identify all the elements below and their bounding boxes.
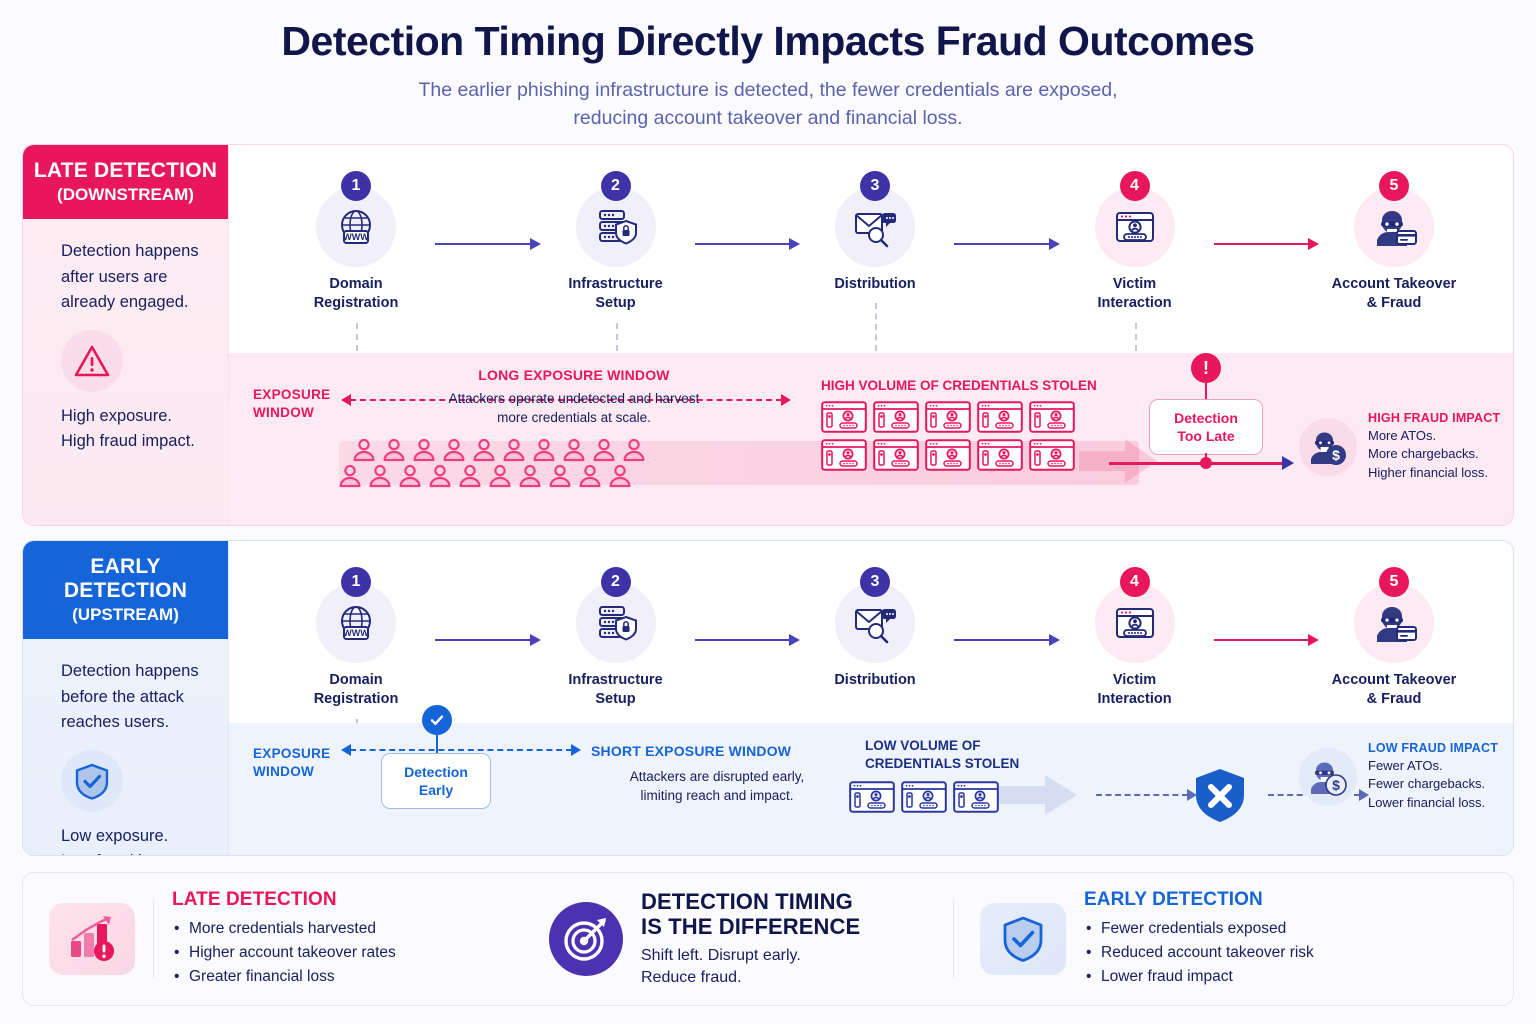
late-people-bottom-item [547,463,573,489]
late-impact-list: More ATOs.More chargebacks.Higher financ… [1368,427,1500,482]
late-step-2-label: Infrastructure Setup [541,275,691,313]
late-step-1-label-l1: Domain [281,275,431,294]
early-step-5-label: Account Takeover & Fraud [1319,671,1469,709]
late-people-top-item [591,437,617,463]
late-fraud-impact: $ HIGH FRAUD IMPACT More ATOs.More charg… [1299,411,1514,482]
late-step-3-badge: 3 [860,171,890,201]
late-cards-item [977,439,1023,471]
early-side-note: Low exposure. Low fraud impact. [61,824,206,856]
early-step-4-label-l2: Interaction [1060,690,1210,709]
early-exposure-band: EXPOSURE WINDOW Detection Early SHORT [229,723,1513,855]
late-expo-l2: WINDOW [253,404,330,422]
early-note-line2: Low fraud impact. [61,849,206,856]
late-arrow-3 [950,243,1060,245]
late-cards-item [821,439,867,471]
late-step-4-label: Victim Interaction [1060,275,1210,313]
early-detection-panel: EARLY DETECTION (UPSTREAM) Detection hap… [22,540,1514,856]
late-people-bottom-item [517,463,543,489]
late-arrow-1 [431,243,541,245]
early-detection-box-l2: Early [393,781,479,799]
early-step-2-badge: 2 [601,567,631,597]
page-subtitle-line2: reducing account takeover and financial … [0,105,1536,133]
early-note-line1: Low exposure. [61,824,206,850]
early-step-victim-interaction[interactable]: 4 Victim [1060,567,1210,709]
early-step-5-label-l1: Account Takeover [1319,671,1469,690]
late-step-5-label-l1: Account Takeover [1319,275,1469,294]
late-step-4-badge: 4 [1120,171,1150,201]
late-detection-box-l1: Detection [1161,409,1251,427]
late-people-top-item [351,437,377,463]
late-people-bottom-item [427,463,453,489]
late-people-top-item [501,437,527,463]
early-window-title: SHORT EXPOSURE WINDOW [591,743,791,759]
early-impact-list: Fewer ATOs.Fewer chargebacks.Lower finan… [1368,757,1498,812]
late-exposure-window-label: EXPOSURE WINDOW [253,386,330,422]
summary-middle-title-l1: DETECTION TIMING [641,889,860,915]
early-step-account-takeover[interactable]: 5 Account [1319,567,1469,709]
late-people-top-item [381,437,407,463]
early-dashed-1 [1087,794,1197,796]
late-step-4-label-l1: Victim [1060,275,1210,294]
early-exposure-arrow [341,749,581,751]
late-flow-row: 1 WWW Domain Registration [229,145,1513,313]
svg-text:WWW: WWW [343,232,369,242]
late-step-account-takeover[interactable]: 5 Account [1319,171,1469,313]
early-step-2-label-l2: Setup [541,690,691,709]
early-expo-l1: EXPOSURE [253,745,330,763]
shield-check-icon [980,903,1066,975]
summary-late-detection: LATE DETECTION More credentials harveste… [23,893,523,985]
late-main-area: 1 WWW Domain Registration [228,145,1513,525]
late-step-1-badge: 1 [341,171,371,201]
late-impact-list-item: More ATOs. [1368,427,1500,445]
early-step-1-label-l1: Domain [281,671,431,690]
late-step-3-label: Distribution [800,275,950,294]
late-step-2-badge: 2 [601,171,631,201]
early-cards-item [901,781,947,813]
page-title: Detection Timing Directly Impacts Fraud … [0,18,1536,65]
late-step-victim-interaction[interactable]: 4 Victim [1060,171,1210,313]
late-side-description: Detection happens after users are alread… [61,239,206,316]
late-impact-arrowhead [1282,456,1294,470]
late-cards-item [925,439,971,471]
late-dropline-1 [356,323,358,351]
sum-early-list-item: Fewer credentials exposed [1084,917,1314,941]
late-step-5-badge: 5 [1379,171,1409,201]
late-impact-line [1109,462,1284,465]
sum-late-list-item: Higher account takeover rates [172,941,396,965]
early-side-header: EARLY DETECTION (UPSTREAM) [23,541,228,639]
page-subtitle: The earlier phishing infrastructure is d… [0,77,1536,132]
late-side-card: LATE DETECTION (DOWNSTREAM) Detection ha… [23,145,228,525]
early-detection-box[interactable]: Detection Early [381,753,491,809]
early-expo-l2: WINDOW [253,763,330,781]
sum-late-list-item: More credentials harvested [172,917,396,941]
late-people-bottom-item [577,463,603,489]
summary-early-detection: EARLY DETECTION Fewer credentials expose… [954,893,1494,985]
early-detection-box-l1: Detection [393,763,479,781]
late-detection-dot-icon: ! [1191,353,1221,383]
late-cards-item [1029,439,1075,471]
bar-chart-alert-icon [49,903,135,975]
late-side-icon-wrap [61,330,206,392]
summary-divider-1 [153,900,154,978]
early-arrow-4 [1210,639,1320,641]
early-heading-line2: (UPSTREAM) [33,605,218,625]
summary-middle-title: DETECTION TIMING IS THE DIFFERENCE [641,889,860,940]
summary-late-list: More credentials harvestedHigher account… [172,917,396,990]
late-note-line1: High exposure. [61,404,206,430]
late-heading-line2: (DOWNSTREAM) [33,185,218,205]
early-main-area: 1 WWW Domain Registration [228,541,1513,855]
late-step-2-label-l2: Setup [541,294,691,313]
early-side-icon-wrap [61,750,206,812]
early-step-3-badge: 3 [860,567,890,597]
summary-middle-title-l2: IS THE DIFFERENCE [641,914,860,940]
late-step-4-label-l2: Interaction [1060,294,1210,313]
late-exposure-band: EXPOSURE WINDOW LONG EXPOSURE WINDOW Att… [229,353,1513,525]
early-flow-row: 1 WWW Domain Registration [229,541,1513,709]
late-people-bottom-item [487,463,513,489]
late-step-1-label-l2: Registration [281,294,431,313]
summary-middle: DETECTION TIMING IS THE DIFFERENCE Shift… [523,893,953,985]
late-window-desc-l2: more credentials at scale. [404,408,744,427]
early-fraud-impact: $ LOW FRAUD IMPACT Fewer ATOs.Fewer char… [1299,741,1514,812]
late-people-bottom-item [457,463,483,489]
late-step-5-label-l2: & Fraud [1319,294,1469,313]
early-step-2-label-l1: Infrastructure [541,671,691,690]
late-arrow-2 [691,243,801,245]
early-volume-title-l1: LOW VOLUME OF [865,737,1019,755]
early-volume-title-l2: CREDENTIALS STOLEN [865,755,1019,773]
sum-early-list-item: Reduced account takeover risk [1084,941,1314,965]
sum-early-list-item: Lower fraud impact [1084,965,1314,989]
late-cards-item [873,401,919,433]
late-cards-item [821,401,867,433]
late-cards-item [1029,401,1075,433]
shield-check-icon [61,750,123,812]
late-detection-box-l2: Too Late [1161,427,1251,445]
late-people-top-item [441,437,467,463]
late-people-row-top [351,437,647,463]
late-detection-stem [1205,381,1207,401]
late-arrow-4 [1210,243,1320,245]
early-volume-arrow [999,775,1079,819]
early-arrow-3 [950,639,1060,641]
early-step-2-label: Infrastructure Setup [541,671,691,709]
late-step-2-label-l1: Infrastructure [541,275,691,294]
early-impact-list-item: Fewer chargebacks. [1368,775,1498,793]
late-people-bottom-item [367,463,393,489]
late-people-top-item [621,437,647,463]
late-step-domain-registration[interactable]: 1 WWW Domain Registration [281,171,431,313]
late-people-top-item [531,437,557,463]
late-step-3-label-l1: Distribution [800,275,950,294]
early-window-desc-l2: limiting reach and impact. [587,786,847,805]
early-cards-item [849,781,895,813]
early-step-3-label: Distribution [800,671,950,690]
sum-late-list-item: Greater financial loss [172,965,396,989]
late-window-desc-l1: Attackers operate undetected and harvest [404,389,744,408]
late-detection-box[interactable]: Detection Too Late [1149,399,1263,455]
svg-text:$: $ [1332,777,1340,793]
late-junction-dot [1200,457,1212,469]
late-step-distribution[interactable]: 3 Distribution [800,171,950,294]
early-step-1-label: Domain Registration [281,671,431,709]
early-heading-line1: EARLY DETECTION [33,555,218,603]
late-step-1-label: Domain Registration [281,275,431,313]
early-step-infrastructure-setup[interactable]: 2 [541,567,691,709]
late-step-5-label: Account Takeover & Fraud [1319,275,1469,313]
late-people-row-bottom [337,463,633,489]
early-side-card: EARLY DETECTION (UPSTREAM) Detection hap… [23,541,228,855]
summary-late-title: LATE DETECTION [172,889,396,911]
summary-middle-sub-l1: Shift left. Disrupt early. [641,945,860,967]
late-dropline-4 [1135,323,1137,351]
target-arrow-icon [549,902,623,976]
summary-middle-sub-l2: Reduce fraud. [641,967,860,989]
early-exposure-window-label: EXPOSURE WINDOW [253,745,330,781]
summary-early-title: EARLY DETECTION [1084,889,1314,911]
late-credential-cards [821,401,1081,471]
late-people-top-item [471,437,497,463]
summary-bar: LATE DETECTION More credentials harveste… [22,872,1514,1006]
late-impact-list-item: More chargebacks. [1368,445,1500,463]
early-step-4-label-l1: Victim [1060,671,1210,690]
late-step-infrastructure-setup[interactable]: 2 [541,171,691,313]
late-dropline-3 [875,303,877,351]
summary-early-list: Fewer credentials exposedReduced account… [1084,917,1314,990]
early-step-4-label: Victim Interaction [1060,671,1210,709]
late-side-note: High exposure. High fraud impact. [61,404,206,455]
late-window-title: LONG EXPOSURE WINDOW [414,367,734,383]
late-people-bottom-item [337,463,363,489]
late-window-desc: Attackers operate undetected and harvest… [404,389,744,427]
early-impact-list-item: Lower financial loss. [1368,794,1498,812]
shield-x-icon [1193,767,1247,825]
late-side-header: LATE DETECTION (DOWNSTREAM) [23,145,228,219]
early-arrow-2 [691,639,801,641]
early-impact-list-item: Fewer ATOs. [1368,757,1498,775]
late-people-top-item [561,437,587,463]
early-window-desc-l1: Attackers are disrupted early, [587,767,847,786]
early-step-distribution[interactable]: 3 Distribution [800,567,950,690]
page-subtitle-line1: The earlier phishing infrastructure is d… [0,77,1536,105]
early-cards-item [953,781,999,813]
late-heading-line1: LATE DETECTION [33,159,218,183]
late-detection-panel: LATE DETECTION (DOWNSTREAM) Detection ha… [22,144,1514,526]
early-step-5-badge: 5 [1379,567,1409,597]
svg-text:$: $ [1332,447,1340,463]
early-impact-title: LOW FRAUD IMPACT [1368,741,1498,755]
early-step-domain-registration[interactable]: 1 WWW Domain Registration [281,567,431,709]
early-step-3-label-l1: Distribution [800,671,950,690]
svg-text:WWW: WWW [343,628,369,638]
early-arrow-1 [431,639,541,641]
early-step-4-badge: 4 [1120,567,1150,597]
early-step-1-badge: 1 [341,567,371,597]
late-impact-list-item: Higher financial loss. [1368,464,1500,482]
hacker-money-icon: $ [1299,418,1357,476]
late-cards-item [873,439,919,471]
late-impact-title: HIGH FRAUD IMPACT [1368,411,1500,425]
late-cards-item [925,401,971,433]
late-people-top-item [411,437,437,463]
late-cards-item [977,401,1023,433]
warning-triangle-icon [61,330,123,392]
hacker-money-icon: $ [1299,748,1357,806]
late-expo-l1: EXPOSURE [253,386,330,404]
late-note-line2: High fraud impact. [61,429,206,455]
early-step-1-label-l2: Registration [281,690,431,709]
late-people-bottom-item [607,463,633,489]
early-side-description: Detection happens before the attack reac… [61,659,206,736]
late-people-bottom-item [397,463,423,489]
early-volume-title: LOW VOLUME OF CREDENTIALS STOLEN [865,737,1019,773]
summary-middle-sub: Shift left. Disrupt early. Reduce fraud. [641,945,860,989]
early-window-desc: Attackers are disrupted early, limiting … [587,767,847,805]
late-dropline-2 [616,323,618,351]
early-step-5-label-l2: & Fraud [1319,690,1469,709]
early-detection-stem [436,731,438,753]
page-header: Detection Timing Directly Impacts Fraud … [0,0,1536,132]
late-volume-title: HIGH VOLUME OF CREDENTIALS STOLEN [821,377,1097,395]
